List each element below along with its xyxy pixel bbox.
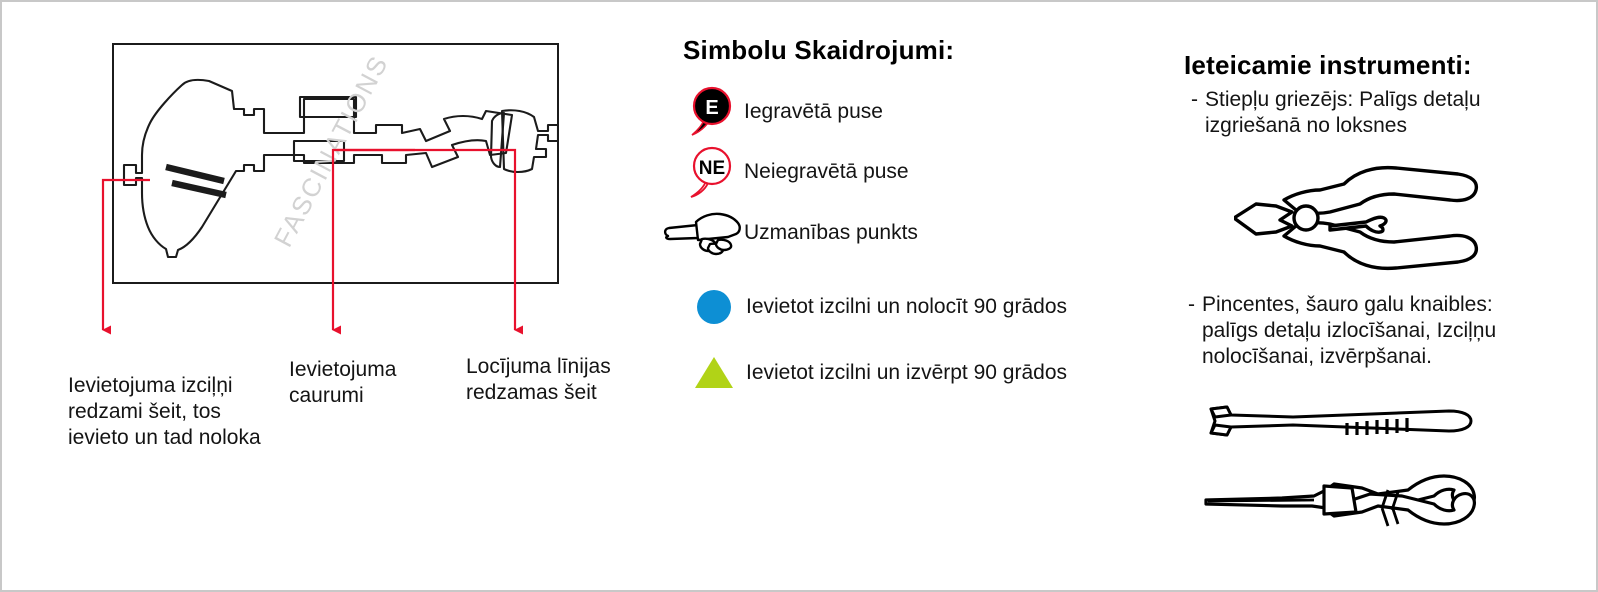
legend-label-fold-90: Ievietot izcilni un nolocīt 90 grādos xyxy=(746,295,1067,319)
legend-row-not-engraved: NE Neiegravētā puse xyxy=(680,145,909,199)
blue-circle-icon xyxy=(682,290,746,324)
pointing-hand-icon xyxy=(658,210,744,256)
callout-label-fold-lines: Locījuma līnijas redzamas šeit xyxy=(466,354,651,406)
wire-cutter-icon xyxy=(1234,160,1482,278)
callout-label-insertion-tabs: Ievietojuma izciļņi redzami šeit, tos ie… xyxy=(68,373,263,451)
needle-nose-pliers-icon xyxy=(1202,460,1486,556)
legend-row-fold-90: Ievietot izcilni un nolocīt 90 grādos xyxy=(682,290,1067,324)
legend-row-engraved: E Iegravētā puse xyxy=(680,85,883,139)
tool-bullet-dash: - xyxy=(1188,292,1195,318)
tool-item-wire-cutter: - Stiepļu griezējs: Palīgs detaļu izgrie… xyxy=(1191,87,1521,139)
tool-item-pliers-tweezers: - Pincentes, šauro galu knaibles: palīgs… xyxy=(1188,292,1508,370)
badge-text-e: E xyxy=(705,97,718,119)
instruction-sheet-page: FASCINATIONS Ievietojuma izciļņi redzami… xyxy=(0,0,1598,592)
callout-label-insertion-holes: Ievietojuma caurumi xyxy=(289,357,464,409)
legend-row-twist-90: Ievietot izcilni un izvērpt 90 grādos xyxy=(682,357,1067,388)
legend-row-attention: Uzmanības punkts xyxy=(658,210,918,256)
part-outline-drawing: FASCINATIONS xyxy=(114,45,557,282)
legend-label-engraved: Iegravētā puse xyxy=(744,100,883,124)
legend-label-twist-90: Ievietot izcilni un izvērpt 90 grādos xyxy=(746,361,1067,385)
green-triangle-icon xyxy=(682,357,746,388)
speech-bubble-engraved-icon: E xyxy=(680,85,744,139)
tool-description: Pincentes, šauro galu knaibles: palīgs d… xyxy=(1188,292,1508,370)
badge-text-ne: NE xyxy=(699,158,725,179)
part-diagram-frame: FASCINATIONS xyxy=(112,43,559,284)
legend-heading: Simbolu Skaidrojumi: xyxy=(683,35,954,66)
tool-bullet-dash: - xyxy=(1191,87,1198,113)
tweezers-icon xyxy=(1209,395,1475,451)
tool-description: Stiepļu griezējs: Palīgs detaļu izgrieša… xyxy=(1191,87,1521,139)
speech-bubble-not-engraved-icon: NE xyxy=(680,145,744,199)
tools-heading: Ieteicamie instrumenti: xyxy=(1184,50,1472,81)
watermark-text: FASCINATIONS xyxy=(268,50,394,252)
legend-label-attention: Uzmanības punkts xyxy=(744,221,918,245)
legend-label-not-engraved: Neiegravētā puse xyxy=(744,160,909,184)
